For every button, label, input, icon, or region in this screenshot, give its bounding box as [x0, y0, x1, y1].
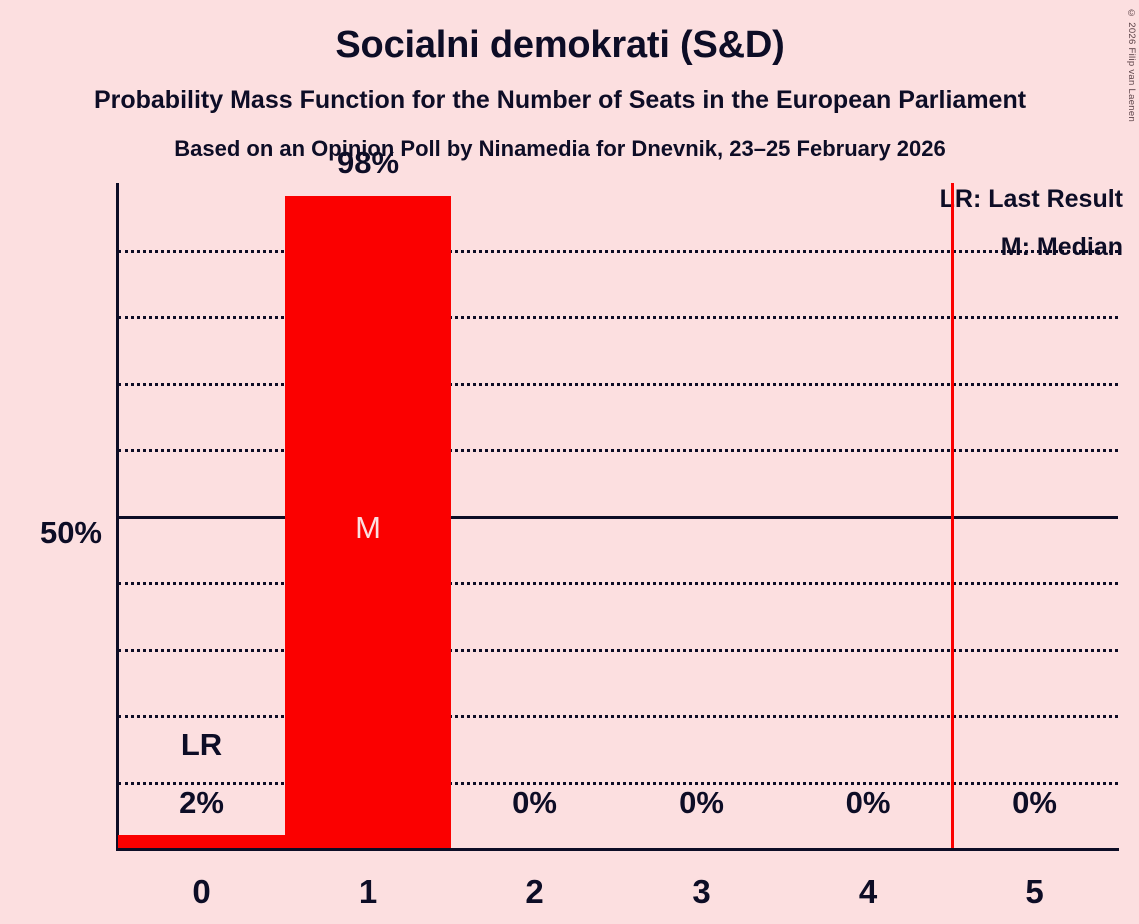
xtick-label-2: 2 — [451, 873, 618, 911]
gridline-30 — [118, 649, 1118, 652]
gridline-20 — [118, 715, 1118, 718]
median-marker: M — [285, 510, 451, 546]
gridline-80 — [118, 316, 1118, 319]
gridline-50 — [118, 516, 1118, 519]
chart-subtitle: Probability Mass Function for the Number… — [0, 86, 1120, 115]
xtick-label-1: 1 — [285, 873, 451, 911]
value-label-seats-3: 0% — [618, 785, 785, 821]
xtick-label-5: 5 — [951, 873, 1118, 911]
xtick-label-3: 3 — [618, 873, 785, 911]
copyright-note: © 2026 Filip van Laenen — [1126, 8, 1137, 122]
gridline-90 — [118, 250, 1118, 253]
pmf-chart: Socialni demokrati (S&D) Probability Mas… — [0, 0, 1139, 924]
xtick-label-4: 4 — [785, 873, 951, 911]
value-label-seats-2: 0% — [451, 785, 618, 821]
gridline-40 — [118, 582, 1118, 585]
last-result-marker: LR — [118, 727, 285, 763]
value-label-seats-1: 98% — [285, 145, 451, 181]
xtick-label-0: 0 — [118, 873, 285, 911]
bar-seats-0 — [118, 835, 285, 848]
x-axis-line — [116, 848, 1119, 851]
gridline-60 — [118, 449, 1118, 452]
page-title: Socialni demokrati (S&D) — [0, 24, 1120, 67]
last-result-line — [951, 183, 954, 848]
gridline-70 — [118, 383, 1118, 386]
chart-source-subtitle: Based on an Opinion Poll by Ninamedia fo… — [0, 136, 1120, 162]
value-label-seats-0: 2% — [118, 785, 285, 821]
ytick-label-50: 50% — [0, 515, 102, 551]
value-label-seats-5: 0% — [951, 785, 1118, 821]
value-label-seats-4: 0% — [785, 785, 951, 821]
plot-area: M LR 2% 98% 0% 0% 0% 0% — [118, 183, 1118, 848]
